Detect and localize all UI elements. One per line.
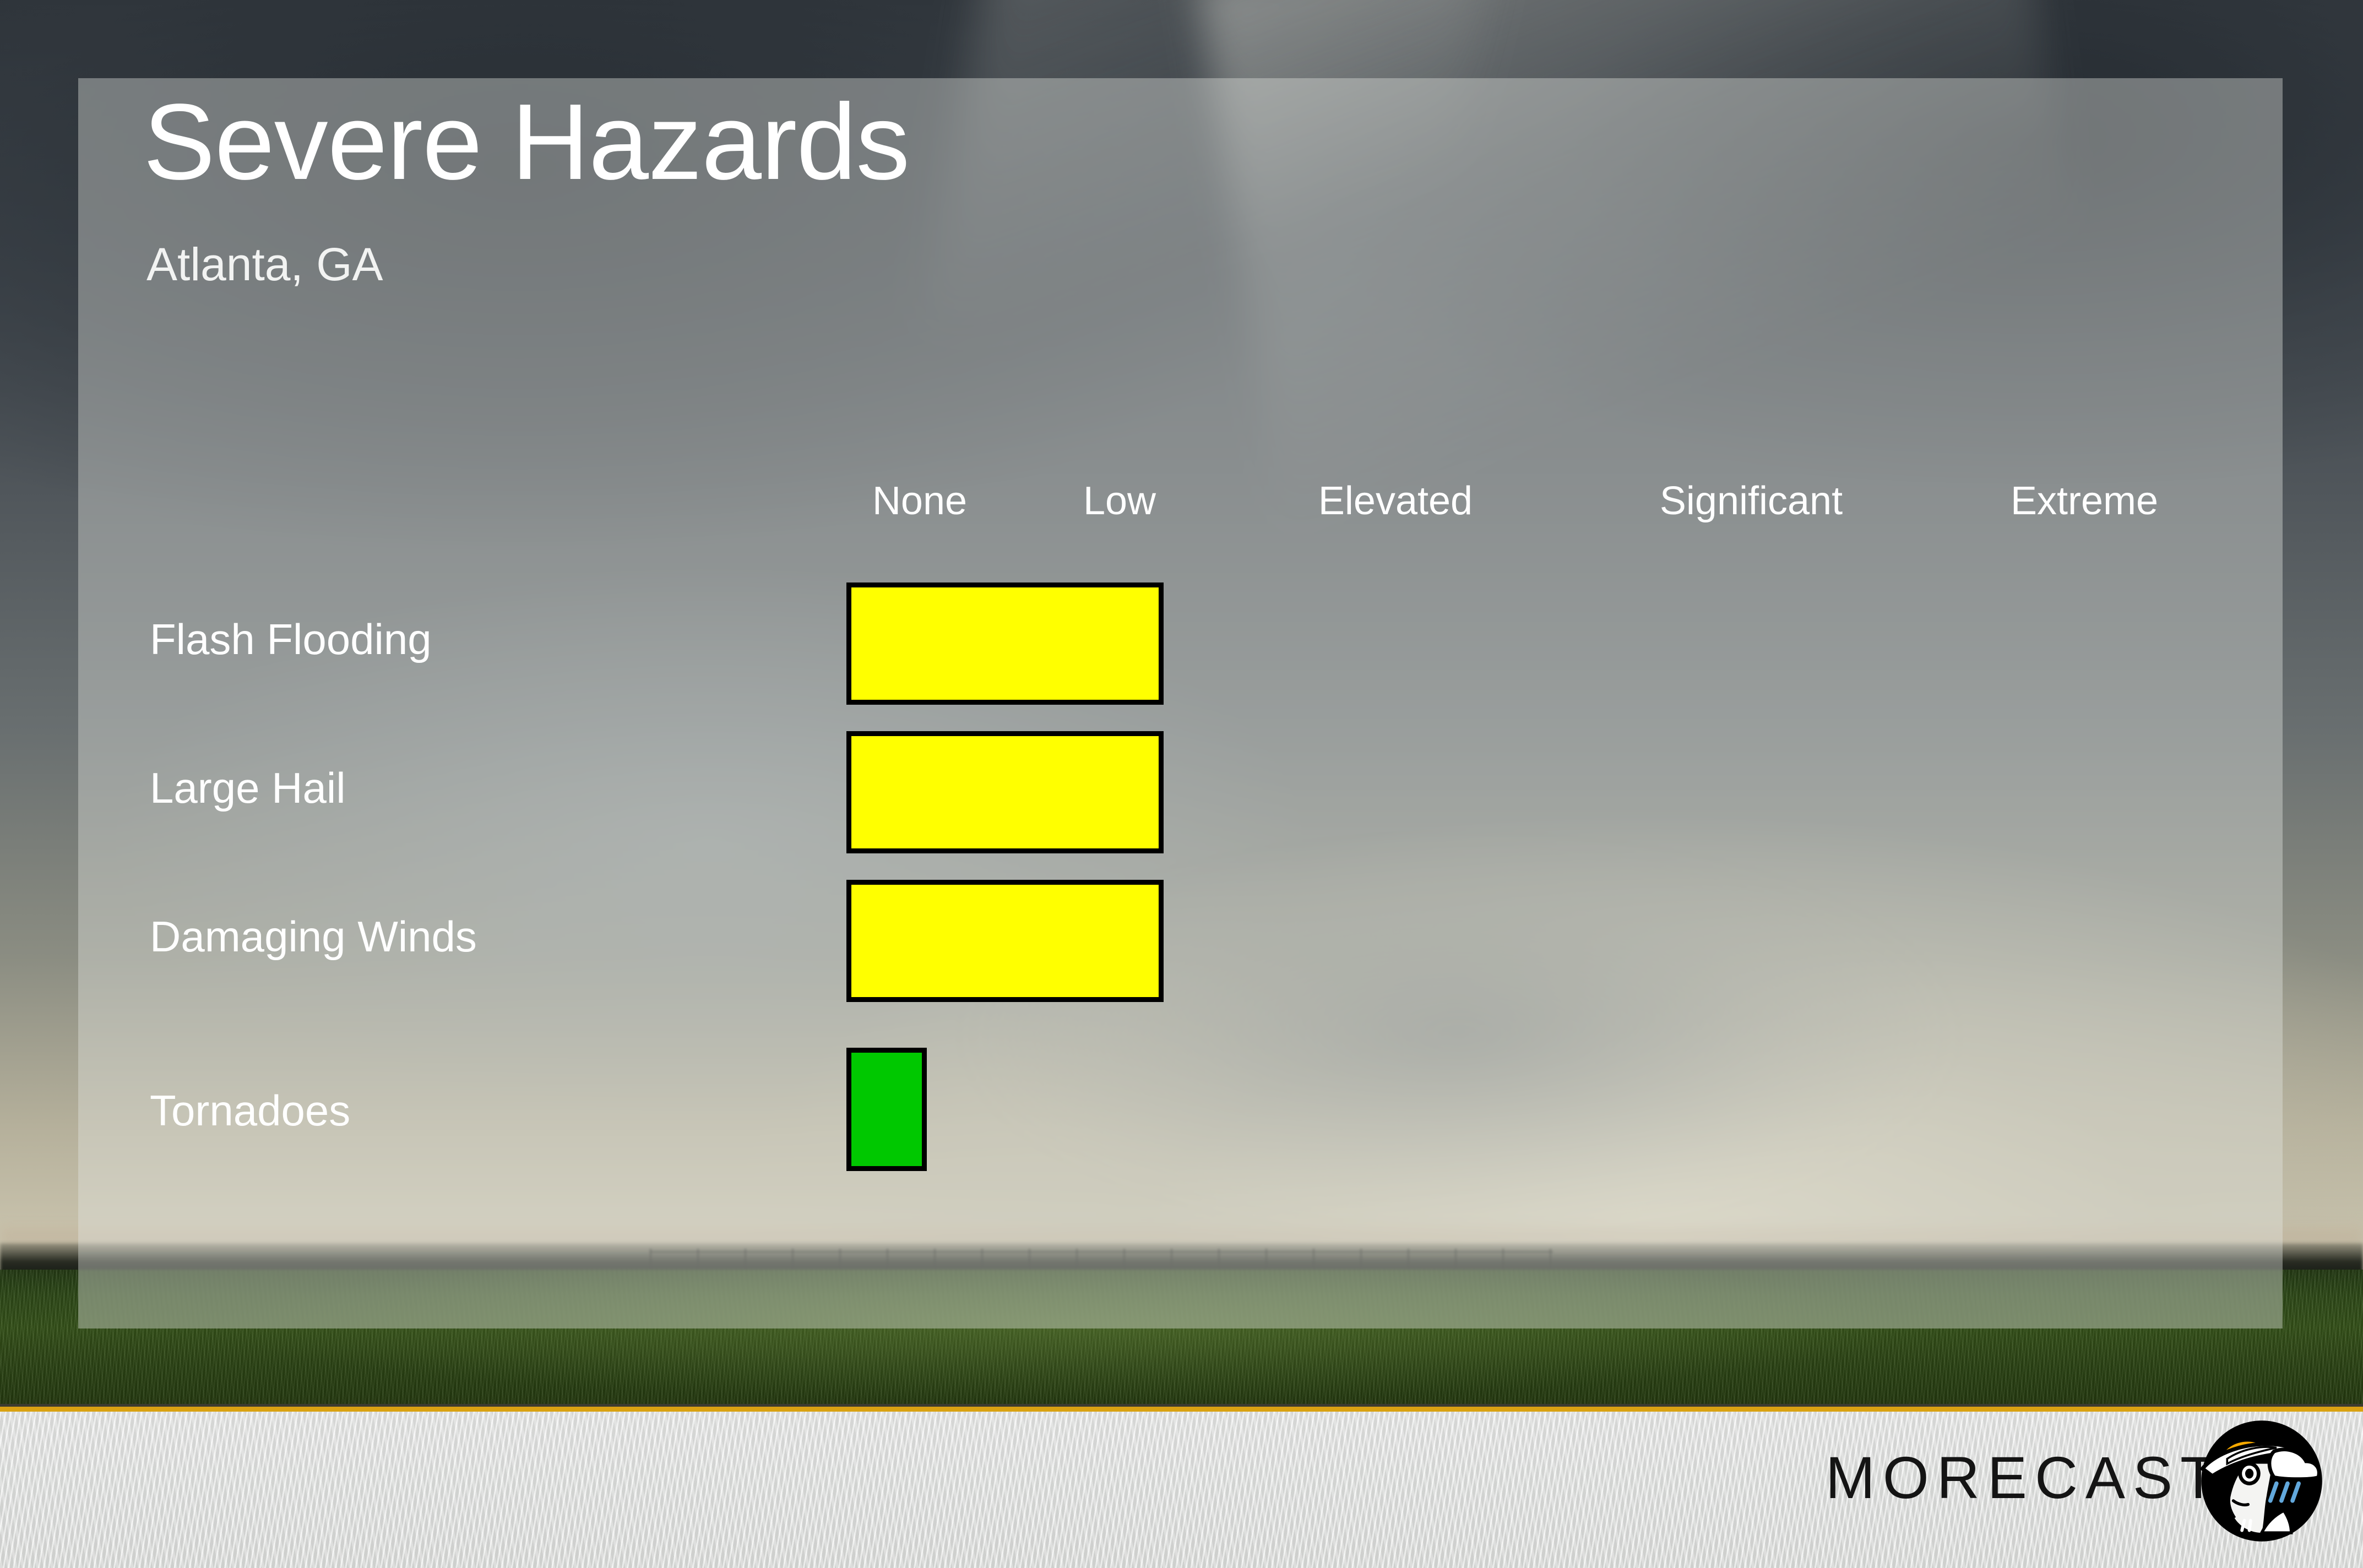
hazard-label-damaging-winds: Damaging Winds [150, 915, 477, 958]
location-label: Atlanta, GA [146, 241, 383, 287]
risk-scale-header: None Low Elevated Significant Extreme [826, 475, 2236, 527]
hazard-label-tornadoes: Tornadoes [150, 1089, 350, 1132]
scale-label-low: Low [1041, 475, 1198, 527]
scale-label-significant: Significant [1593, 475, 1910, 527]
hazard-label-flash-flooding: Flash Flooding [150, 618, 432, 661]
hazard-label-large-hail: Large Hail [150, 766, 346, 809]
morecast-face-logo [2200, 1419, 2323, 1543]
page-title: Severe Hazards [143, 88, 909, 196]
scale-label-none: None [826, 475, 1013, 527]
hazard-bar-tornadoes [846, 1048, 927, 1171]
content-panel [78, 78, 2283, 1329]
hazard-bar-large-hail [846, 731, 1164, 853]
footer-gold-rule [0, 1407, 2363, 1412]
scale-label-elevated: Elevated [1231, 475, 1560, 527]
brand-wordmark: MORECAST [1826, 1448, 2224, 1507]
hazard-bar-flash-flooding [846, 582, 1164, 705]
hazard-bar-damaging-winds [846, 880, 1164, 1002]
infographic-canvas: Severe Hazards Atlanta, GA None Low Elev… [0, 0, 2363, 1568]
scale-label-extreme: Extreme [1933, 475, 2236, 527]
